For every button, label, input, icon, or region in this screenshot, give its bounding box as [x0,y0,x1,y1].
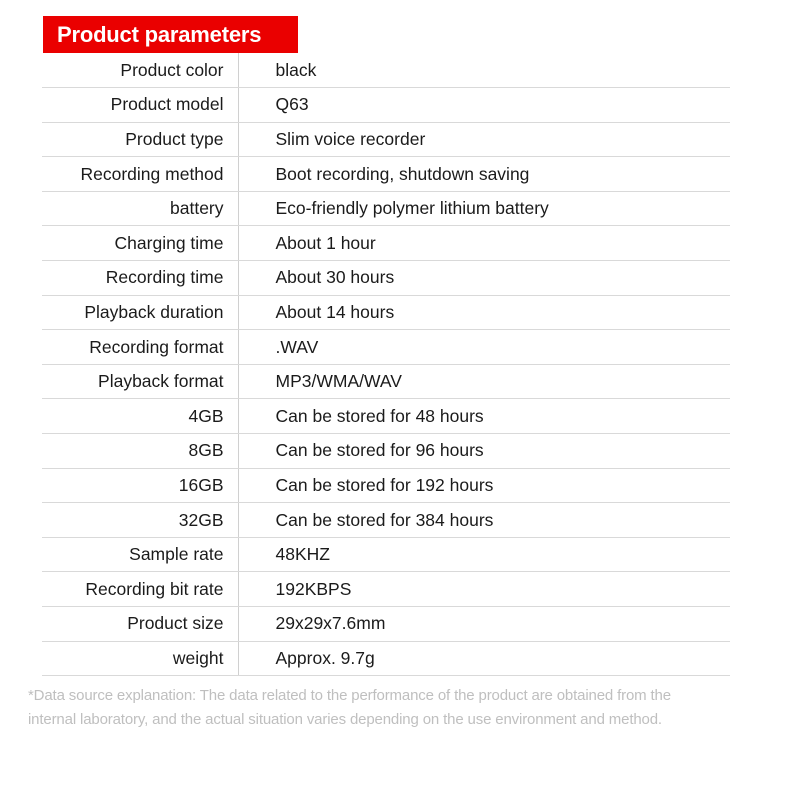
table-row: Playback formatMP3/WMA/WAV [42,364,730,399]
spec-label: Product size [42,607,238,642]
spec-label: Playback duration [42,295,238,330]
spec-value: About 14 hours [238,295,730,330]
spec-label: Recording bit rate [42,572,238,607]
table-row: 32GBCan be stored for 384 hours [42,503,730,538]
spec-value: About 1 hour [238,226,730,261]
table-row: Recording format.WAV [42,330,730,365]
table-row: Product typeSlim voice recorder [42,122,730,157]
spec-value: Slim voice recorder [238,122,730,157]
specifications-table-body: Product colorblackProduct modelQ63Produc… [42,53,730,676]
table-row: Product colorblack [42,53,730,88]
spec-value: black [238,53,730,88]
spec-label: 16GB [42,468,238,503]
table-row: 16GBCan be stored for 192 hours [42,468,730,503]
spec-value: .WAV [238,330,730,365]
table-row: weightApprox. 9.7g [42,641,730,676]
spec-label: battery [42,191,238,226]
spec-label: weight [42,641,238,676]
product-parameters-page: Product parameters Product colorblackPro… [0,0,790,788]
spec-value: Boot recording, shutdown saving [238,157,730,192]
table-row: Recording methodBoot recording, shutdown… [42,157,730,192]
spec-value: Q63 [238,88,730,123]
table-row: Recording timeAbout 30 hours [42,261,730,296]
spec-label: Sample rate [42,537,238,572]
table-row: Product size29x29x7.6mm [42,607,730,642]
table-row: batteryEco-friendly polymer lithium batt… [42,191,730,226]
table-row: Playback durationAbout 14 hours [42,295,730,330]
section-banner: Product parameters [43,16,298,53]
spec-value: Approx. 9.7g [238,641,730,676]
table-row: 4GBCan be stored for 48 hours [42,399,730,434]
table-row: Sample rate48KHZ [42,537,730,572]
spec-label: Recording time [42,261,238,296]
data-source-footnote: *Data source explanation: The data relat… [28,684,718,733]
spec-value: Can be stored for 48 hours [238,399,730,434]
table-row: 8GBCan be stored for 96 hours [42,434,730,469]
spec-label: Recording method [42,157,238,192]
spec-label: 8GB [42,434,238,469]
spec-value: About 30 hours [238,261,730,296]
spec-label: Playback format [42,364,238,399]
spec-label: 32GB [42,503,238,538]
specifications-table: Product colorblackProduct modelQ63Produc… [42,53,730,676]
spec-value: 192KBPS [238,572,730,607]
spec-label: 4GB [42,399,238,434]
spec-value: Can be stored for 192 hours [238,468,730,503]
table-row: Recording bit rate192KBPS [42,572,730,607]
spec-value: 29x29x7.6mm [238,607,730,642]
spec-label: Product type [42,122,238,157]
spec-label: Product model [42,88,238,123]
page-title: Product parameters [57,24,261,46]
table-row: Product modelQ63 [42,88,730,123]
spec-label: Recording format [42,330,238,365]
spec-label: Product color [42,53,238,88]
spec-value: 48KHZ [238,537,730,572]
table-row: Charging timeAbout 1 hour [42,226,730,261]
spec-value: MP3/WMA/WAV [238,364,730,399]
spec-value: Eco-friendly polymer lithium battery [238,191,730,226]
spec-value: Can be stored for 384 hours [238,503,730,538]
spec-value: Can be stored for 96 hours [238,434,730,469]
spec-label: Charging time [42,226,238,261]
